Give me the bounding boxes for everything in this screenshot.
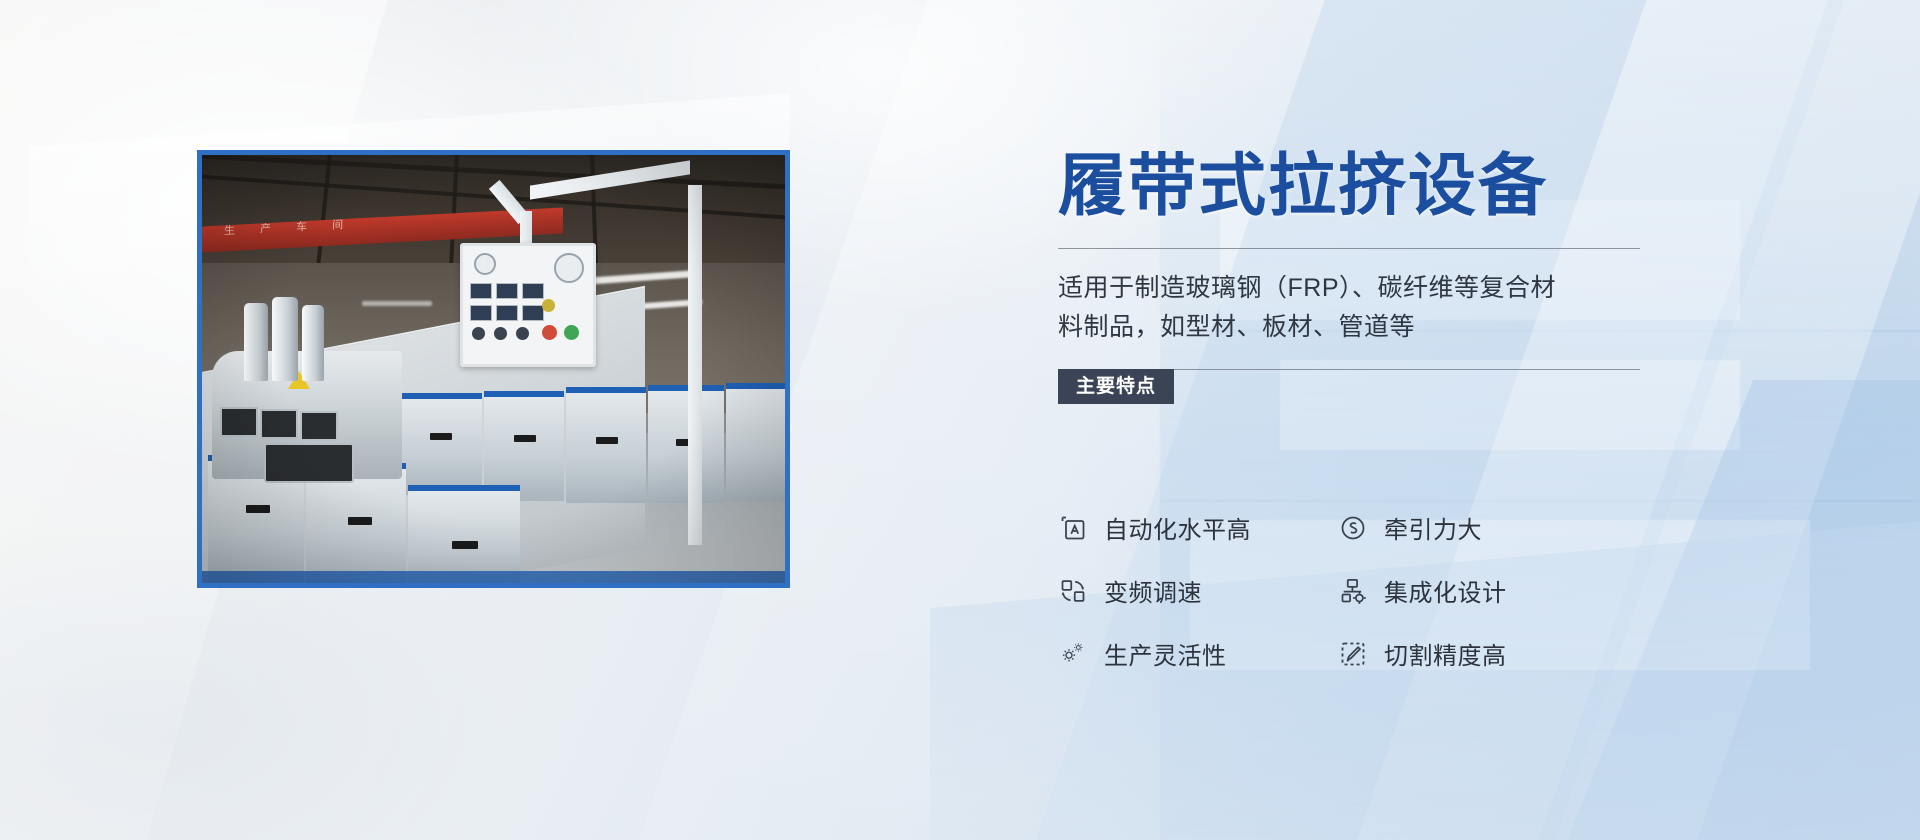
description-line-2: 料制品，如型材、板材、管道等 [1058, 313, 1415, 341]
status-badge: 主要特点 [1058, 369, 1174, 404]
feature-item-vfd-speed: 变频调速 [1058, 559, 1338, 622]
component-node-icon [1338, 576, 1368, 606]
banner-content: 履带式拉挤设备 适用于制造玻璃钢（FRP）、碳纤维等复合材 料制品，如型材、板材… [1058, 150, 1658, 405]
dashed-box-pen-icon [1338, 639, 1368, 669]
two-squares-icon [1058, 576, 1088, 606]
feature-item-traction: 牵引力大 [1338, 496, 1598, 559]
background-photo-ghost [1160, 0, 1920, 840]
product-banner: 生 产 车 间 [0, 0, 1920, 840]
feature-label: 集成化设计 [1384, 573, 1507, 608]
features-heading-row: 主要特点 [1058, 369, 1640, 405]
product-photo-image: 生 产 车 间 [202, 155, 785, 583]
feature-item-flexible-production: 生产灵活性 [1058, 622, 1338, 685]
feature-grid: 自动化水平高 牵引力大 变频 [1058, 496, 1598, 685]
description-line-1: 适用于制造玻璃钢（FRP）、碳纤维等复合材 [1058, 274, 1556, 302]
product-description: 适用于制造玻璃钢（FRP）、碳纤维等复合材 料制品，如型材、板材、管道等 [1058, 269, 1658, 347]
double-gear-icon [1058, 639, 1088, 669]
feature-item-integrated-design: 集成化设计 [1338, 559, 1598, 622]
page-title: 履带式拉挤设备 [1058, 150, 1658, 222]
feature-item-automation: 自动化水平高 [1058, 496, 1338, 559]
feature-label: 牵引力大 [1384, 510, 1482, 545]
product-photo: 生 产 车 间 [197, 150, 790, 588]
feature-label: 生产灵活性 [1104, 636, 1227, 671]
feature-item-cutting-precision: 切割精度高 [1338, 622, 1598, 685]
circle-wave-icon [1338, 513, 1368, 543]
title-divider [1058, 248, 1640, 249]
feature-label: 切割精度高 [1384, 636, 1507, 671]
boxed-letter-a-icon [1058, 513, 1088, 543]
feature-label: 变频调速 [1104, 573, 1202, 608]
feature-label: 自动化水平高 [1104, 510, 1251, 545]
